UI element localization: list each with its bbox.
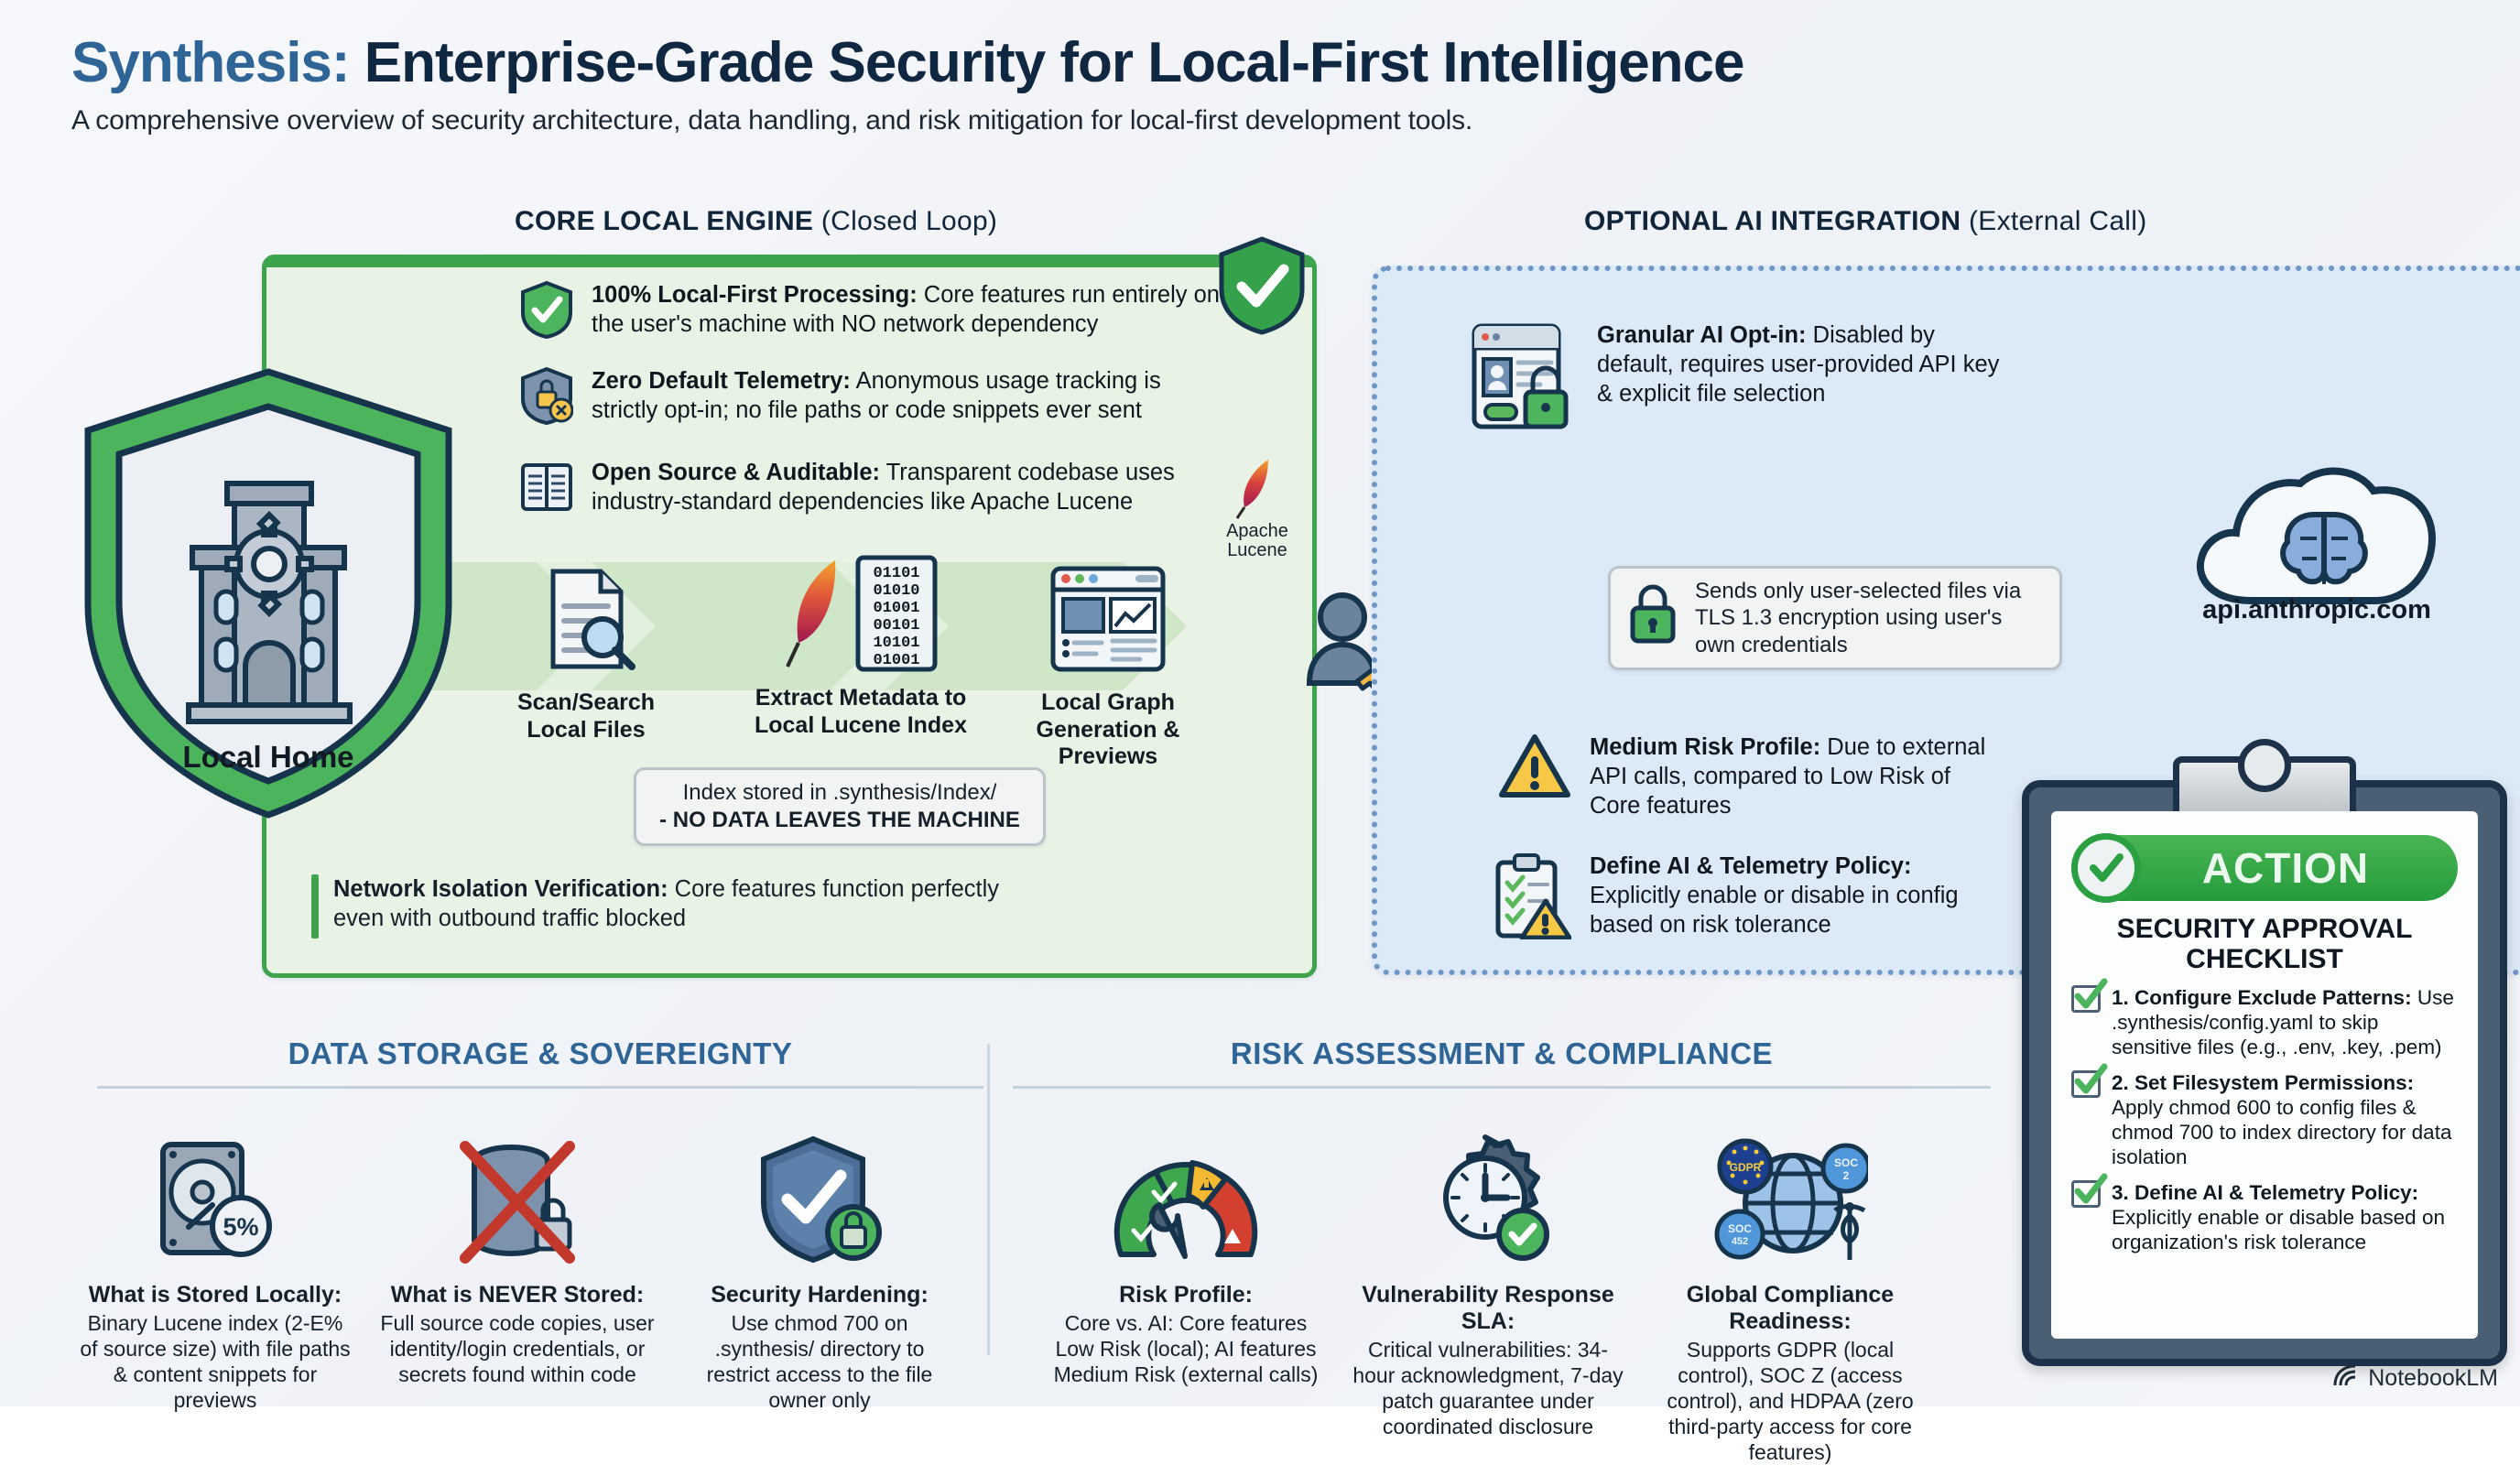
checklist-item-3-text: Explicitly enable or disable based on or… [2112, 1206, 2445, 1253]
page-title-accent: Synthesis: [71, 31, 350, 94]
core-bullet-1-bold: 100% Local-First Processing: [592, 282, 918, 308]
apache-lucene-logo: Apache Lucene [1207, 456, 1308, 560]
risk-section-title: RISK ASSESSMENT & COMPLIANCE [1016, 1036, 1987, 1071]
brand-label: NotebookLM [2368, 1365, 2498, 1392]
hard-drive-percent-icon: 5% [77, 1104, 353, 1269]
checklist-title-line2: CHECKLIST [2186, 944, 2343, 974]
ai-heading-strong: OPTIONAL AI INTEGRATION [1584, 206, 1961, 236]
ai-bullet-2-bold: Medium Risk Profile: [1590, 734, 1820, 760]
warning-triangle-icon [1498, 732, 1571, 805]
data-storage-section-title: DATA STORAGE & SOVEREIGNTY [101, 1036, 980, 1071]
core-bullet-local-first: 100% Local-First Processing: Core featur… [520, 280, 1233, 343]
core-heading-thin: (Closed Loop) [813, 206, 997, 236]
document-search-icon [531, 564, 641, 674]
core-bullet-open-source: Open Source & Auditable: Transparent cod… [520, 458, 1196, 519]
storage-cell-stored-locally: 5% What is Stored Locally: Binary Lucene… [64, 1104, 366, 1413]
green-padlock-icon [1627, 584, 1678, 652]
risk-cell-2-desc: Critical vulnerabilities: 34-hour acknow… [1350, 1337, 1626, 1439]
ai-bullet-medium-risk: Medium Risk Profile: Due to external API… [1498, 732, 1993, 820]
risk-cell-profile: Risk Profile: Core vs. AI: Core features… [1035, 1104, 1337, 1465]
risk-cell-1-title: Risk Profile: [1048, 1282, 1324, 1308]
shield-check-lock-icon [681, 1104, 958, 1269]
svg-text:SOC: SOC [1728, 1222, 1752, 1235]
graph-preview-window-icon [1048, 564, 1168, 674]
network-isolation-note: Network Isolation Verification: Core fea… [311, 874, 1048, 939]
pipeline-stage-extract: 011010101001001 001011010101001 Extract … [723, 553, 998, 739]
pipeline-stage-scan: Scan/SearchLocal Files [476, 564, 696, 743]
security-approval-clipboard: ACTION SECURITY APPROVAL CHECKLIST 1. Co… [2022, 780, 2507, 1366]
page-header: Synthesis: Enterprise-Grade Security for… [71, 33, 2452, 136]
shield-lock-x-icon [520, 366, 573, 429]
ai-heading-thin: (External Call) [1961, 206, 2146, 236]
ai-panel-heading: OPTIONAL AI INTEGRATION (External Call) [1584, 206, 2147, 237]
index-callout-line1: Index stored in .synthesis/Index/ [653, 779, 1026, 807]
data-storage-columns: 5% What is Stored Locally: Binary Lucene… [64, 1104, 971, 1413]
risk-cell-3-title: Global Compliance Readiness: [1652, 1282, 1928, 1335]
core-heading-strong: CORE LOCAL ENGINE [515, 206, 813, 236]
svg-text:01101: 01101 [873, 565, 919, 582]
checklist-item-1-bold: 1. Configure Exclude Patterns: [2112, 986, 2412, 1009]
svg-text:01010: 01010 [873, 582, 919, 600]
checkbox-checked-icon[interactable] [2071, 985, 2101, 1013]
checklist-title: SECURITY APPROVAL CHECKLIST [2071, 914, 2458, 974]
svg-text:01001: 01001 [873, 652, 919, 669]
checklist-item-2-bold: 2. Set Filesystem Permissions: [2112, 1071, 2414, 1094]
pipeline-stage-graph: Local GraphGeneration &Previews [998, 564, 1218, 771]
risk-cell-2-title: Vulnerability Response SLA: [1350, 1282, 1626, 1335]
clock-verified-badge-icon [1350, 1104, 1626, 1269]
local-home-label: Local Home [182, 740, 353, 774]
pipeline-stage-scan-label: Scan/SearchLocal Files [476, 689, 696, 743]
checklist-item[interactable]: 2. Set Filesystem Permissions: Apply chm… [2071, 1070, 2458, 1169]
risk-cell-3-desc: Supports GDPR (local control), SOC Z (ac… [1652, 1337, 1928, 1465]
page-subtitle: A comprehensive overview of security arc… [71, 105, 2452, 136]
storage-cell-3-desc: Use chmod 700 on .synthesis/ directory t… [681, 1310, 958, 1413]
checklist-item[interactable]: 1. Configure Exclude Patterns: Use .synt… [2071, 985, 2458, 1059]
shield-check-icon [520, 280, 573, 343]
page-title: Synthesis: Enterprise-Grade Security for… [71, 33, 2452, 92]
pipeline-stage-graph-label: Local GraphGeneration &Previews [998, 689, 1218, 771]
database-crossed-out-icon [379, 1104, 656, 1269]
storage-cell-3-title: Security Hardening: [681, 1282, 958, 1308]
index-callout-line2: - NO DATA LEAVES THE MACHINE [653, 807, 1026, 834]
storage-cell-1-title: What is Stored Locally: [77, 1282, 353, 1308]
checklist-item[interactable]: 3. Define AI & Telemetry Policy: Explici… [2071, 1180, 2458, 1254]
page-title-rest: Enterprise-Grade Security for Local-Firs… [350, 31, 1744, 94]
core-panel-heading: CORE LOCAL ENGINE (Closed Loop) [515, 206, 997, 237]
risk-cell-compliance: GDPR SOC 2 SOC 452 Global Compliance Rea… [1639, 1104, 1941, 1465]
net-iso-bold: Network Isolation Verification: [333, 876, 668, 902]
action-badge: ACTION [2071, 835, 2458, 901]
risk-columns: Risk Profile: Core vs. AI: Core features… [1035, 1104, 1941, 1465]
lucene-feather-binary-icon [784, 555, 850, 672]
clipboard-paper: ACTION SECURITY APPROVAL CHECKLIST 1. Co… [2051, 811, 2478, 1339]
open-book-icon [520, 458, 573, 519]
risk-cell-1-desc: Core vs. AI: Core features Low Risk (loc… [1048, 1310, 1324, 1387]
local-home-shield: Local Home [71, 364, 465, 827]
svg-text:GDPR: GDPR [1730, 1161, 1762, 1174]
ai-bullet-3-bold: Define AI & Telemetry Policy: [1590, 853, 1911, 879]
net-iso-accent-bar [311, 874, 319, 939]
checklist-item-3-bold: 3. Define AI & Telemetry Policy: [2112, 1181, 2418, 1204]
core-bullet-3-bold: Open Source & Auditable: [592, 460, 880, 485]
risk-divider [1013, 1086, 1991, 1089]
globe-compliance-badges-icon: GDPR SOC 2 SOC 452 [1652, 1104, 1928, 1269]
risk-gauge-icon [1048, 1104, 1324, 1269]
checkbox-checked-icon[interactable] [2071, 1070, 2101, 1098]
ai-bullet-policy: Define AI & Telemetry Policy: Explicitly… [1493, 852, 1974, 944]
tls-callout-text: Sends only user-selected files via TLS 1… [1695, 578, 2043, 658]
app-window-lock-icon [1469, 320, 1579, 439]
checkbox-checked-icon[interactable] [2071, 1180, 2101, 1208]
storage-cell-2-title: What is NEVER Stored: [379, 1282, 656, 1308]
core-verified-shield-icon [1218, 236, 1306, 335]
storage-percent-badge: 5% [223, 1213, 258, 1241]
bottom-sections-divider [987, 1044, 990, 1355]
risk-cell-sla: Vulnerability Response SLA: Critical vul… [1337, 1104, 1639, 1465]
svg-text:452: 452 [1732, 1236, 1748, 1247]
tls-encryption-callout: Sends only user-selected files via TLS 1… [1608, 566, 2062, 670]
clipboard-warning-icon [1493, 852, 1571, 944]
ai-bullet-opt-in: Granular AI Opt-in: Disabled by default,… [1469, 320, 2000, 439]
binary-data-icon: 011010101001001 001011010101001 [855, 555, 938, 672]
svg-text:SOC: SOC [1834, 1156, 1858, 1169]
storage-cell-2-desc: Full source code copies, user identity/l… [379, 1310, 656, 1387]
notebooklm-logo-icon [2331, 1363, 2359, 1394]
storage-cell-1-desc: Binary Lucene index (2-E% of source size… [77, 1310, 353, 1413]
svg-text:2: 2 [1843, 1169, 1850, 1182]
svg-text:00101: 00101 [873, 617, 919, 635]
ai-bullet-1-bold: Granular AI Opt-in: [1597, 322, 1807, 348]
index-storage-callout: Index stored in .synthesis/Index/ - NO D… [634, 767, 1046, 846]
ai-bullet-3-text: Explicitly enable or disable in config b… [1590, 883, 1959, 938]
action-check-icon [2071, 833, 2141, 903]
svg-text:01001: 01001 [873, 600, 919, 617]
pipeline-stage-extract-label: Extract Metadata toLocal Lucene Index [723, 685, 998, 739]
checklist-title-line1: SECURITY APPROVAL [2117, 914, 2413, 944]
data-storage-divider [97, 1086, 983, 1089]
checklist-item-2-text: Apply chmod 600 to config files & chmod … [2112, 1096, 2451, 1168]
storage-cell-hardening: Security Hardening: Use chmod 700 on .sy… [668, 1104, 971, 1413]
lucene-logo-text: Apache Lucene [1207, 522, 1308, 560]
brand-notebooklm: NotebookLM [2331, 1363, 2498, 1394]
storage-cell-never-stored: What is NEVER Stored: Full source code c… [366, 1104, 668, 1413]
svg-text:10101: 10101 [873, 635, 919, 652]
api-endpoint-label: api.anthropic.com [2124, 595, 2509, 625]
core-bullet-telemetry: Zero Default Telemetry: Anonymous usage … [520, 366, 1233, 429]
core-bullet-2-bold: Zero Default Telemetry: [592, 368, 851, 394]
